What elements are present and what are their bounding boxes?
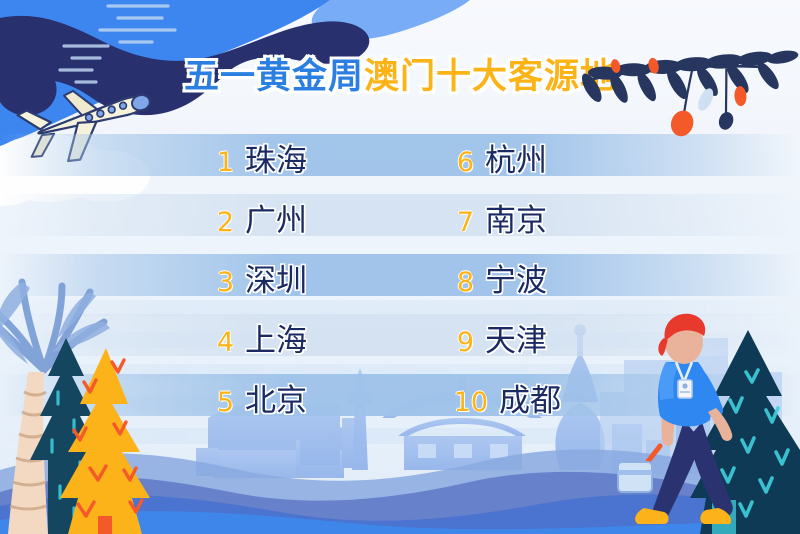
rank-number: 1 (208, 149, 234, 176)
list-row: 3 深圳 8 宁波 (0, 251, 800, 311)
city-name: 天津 (485, 326, 547, 357)
list-item-10[interactable]: 10 成都 (448, 386, 561, 417)
title-part-blue: 五一黄金周 (184, 57, 364, 97)
infographic-poster: 五一黄金周澳门十大客源地 (0, 0, 800, 534)
row-band (0, 254, 800, 296)
list-item-7[interactable]: 7 南京 (448, 206, 547, 237)
list-item-2[interactable]: 2 广州 (208, 206, 307, 237)
rank-number: 10 (448, 389, 488, 416)
list-item-6[interactable]: 6 杭州 (448, 146, 547, 177)
list-item-5[interactable]: 5 北京 (208, 386, 307, 417)
list-row: 2 广州 7 南京 (0, 191, 800, 251)
ranking-list: 1 珠海 6 杭州 2 广州 7 南京 3 深圳 (0, 131, 800, 431)
rank-number: 9 (448, 329, 474, 356)
title-part-orange: 澳门十大客源地 (364, 57, 616, 97)
city-name: 上海 (245, 326, 307, 357)
list-row: 1 珠海 6 杭州 (0, 131, 800, 191)
city-name: 宁波 (485, 266, 547, 297)
list-item-8[interactable]: 8 宁波 (448, 266, 547, 297)
row-band (0, 314, 800, 356)
city-name: 北京 (245, 386, 307, 417)
city-name: 杭州 (485, 146, 547, 177)
city-name: 广州 (245, 206, 307, 237)
poster-title: 五一黄金周澳门十大客源地 (0, 57, 800, 97)
list-item-9[interactable]: 9 天津 (448, 326, 547, 357)
city-name: 南京 (485, 206, 547, 237)
list-row: 4 上海 9 天津 (0, 311, 800, 371)
rank-number: 5 (208, 389, 234, 416)
rank-number: 8 (448, 269, 474, 296)
list-item-3[interactable]: 3 深圳 (208, 266, 307, 297)
rank-number: 2 (208, 209, 234, 236)
list-item-4[interactable]: 4 上海 (208, 326, 307, 357)
rank-number: 6 (448, 149, 474, 176)
list-item-1[interactable]: 1 珠海 (208, 146, 307, 177)
rank-number: 7 (448, 209, 474, 236)
city-name: 深圳 (245, 266, 307, 297)
rank-number: 3 (208, 269, 234, 296)
city-name: 珠海 (245, 146, 307, 177)
row-band (0, 374, 800, 416)
rank-number: 4 (208, 329, 234, 356)
row-band (0, 134, 800, 176)
row-band (0, 194, 800, 236)
rolling-luggage (618, 446, 660, 492)
list-row: 5 北京 10 成都 (0, 371, 800, 431)
city-name: 成都 (499, 386, 561, 417)
